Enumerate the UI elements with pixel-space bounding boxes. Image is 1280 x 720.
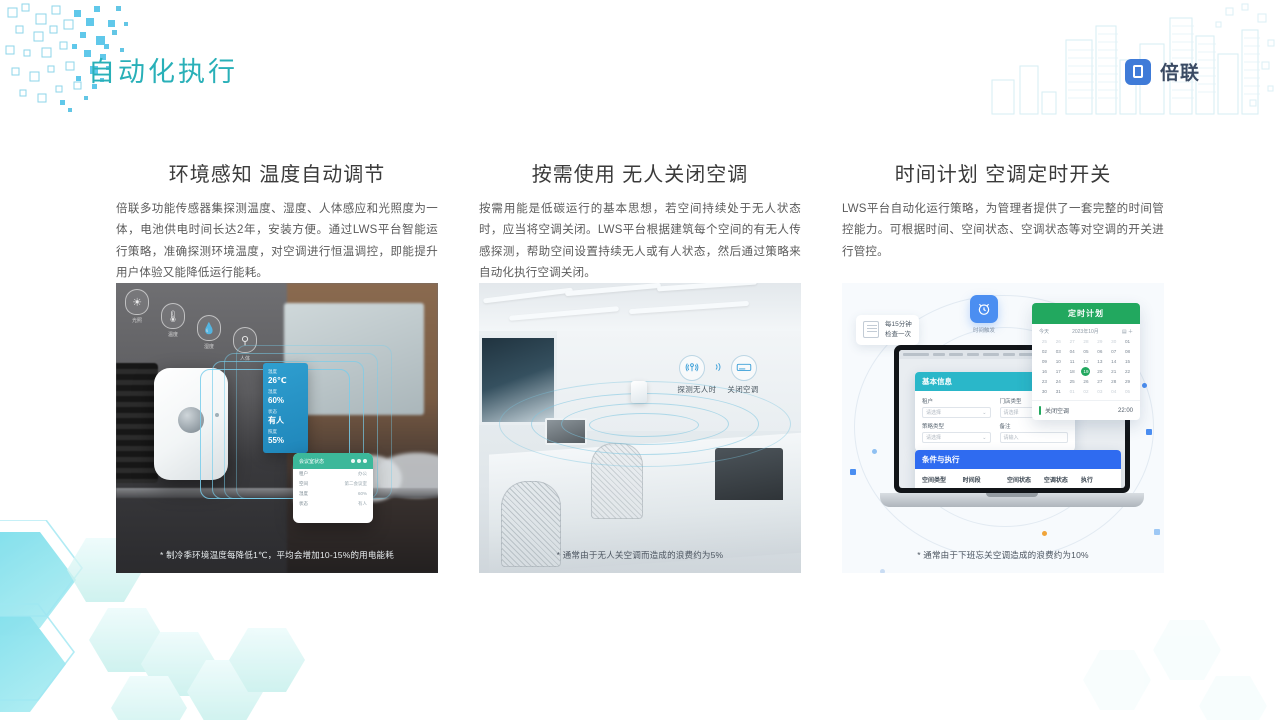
- badge-temperature: 🌡 温度: [160, 303, 186, 362]
- reading-value: 60%: [268, 395, 303, 406]
- field-placeholder: 请选择: [926, 434, 941, 441]
- chevron-down-icon: ⌄: [982, 435, 986, 441]
- plan-title: 定时计划: [1032, 303, 1140, 324]
- calendar-day[interactable]: 10: [1052, 357, 1065, 366]
- col-header: 空间状态: [1007, 473, 1042, 486]
- row-value: 第二会议室: [345, 481, 368, 487]
- figure-caption: * 通常由于无人关空调而造成的浪费约为5%: [479, 549, 801, 561]
- calendar-day[interactable]: 05: [1080, 347, 1093, 356]
- figure2-sensor-waves: [485, 391, 795, 501]
- calendar-day[interactable]: 21: [1107, 367, 1120, 376]
- column-1: 环境感知 温度自动调节 倍联多功能传感器集探测温度、湿度、人体感应和光照度为一体…: [116, 158, 438, 284]
- figure1-vent: [116, 363, 158, 483]
- column-heading: 环境感知 温度自动调节: [116, 158, 438, 187]
- decor-square: [1154, 529, 1160, 535]
- row-label: 状态: [299, 501, 308, 507]
- field-label: 租户: [922, 397, 991, 405]
- decor-dot: [1042, 531, 1047, 536]
- figure3-interval-tag: 每15分钟 检查一次: [856, 315, 919, 345]
- decor-dot: [880, 569, 885, 573]
- condition-title: 条件与执行: [915, 450, 1121, 469]
- calendar-day[interactable]: 13: [1093, 357, 1106, 366]
- thermometer-icon: 🌡: [161, 303, 185, 329]
- calendar-day[interactable]: 29: [1121, 377, 1134, 386]
- field-select[interactable]: 请选择 ⌄: [922, 432, 991, 443]
- figure-office-photo: 探测无人时 关闭空调 * 通常由于无人关空调而造成的浪费约为5%: [479, 283, 801, 573]
- col-header: 空调状态: [1044, 473, 1079, 486]
- col-header: 时间段: [963, 473, 1005, 486]
- text-columns: 环境感知 温度自动调节 倍联多功能传感器集探测温度、湿度、人体感应和光照度为一体…: [0, 158, 1280, 284]
- column-heading: 时间计划 空调定时开关: [842, 158, 1164, 187]
- field-input[interactable]: 请输入: [1000, 432, 1069, 443]
- plan-event-row[interactable]: 关闭空调 22:00: [1032, 400, 1140, 420]
- calendar-day[interactable]: 01: [1066, 387, 1079, 396]
- sun-icon: ☀: [125, 289, 149, 315]
- humidity-icon: 💧: [197, 315, 221, 341]
- calendar-day[interactable]: 22: [1121, 367, 1134, 376]
- calendar-day[interactable]: 03: [1052, 347, 1065, 356]
- condition-card: 条件与执行 空间类型 时间段 空间状态 空调状态 执行 公共办公区 22:00-…: [915, 450, 1121, 488]
- row-value: 办公: [358, 471, 367, 477]
- calendar-day[interactable]: 06: [1093, 347, 1106, 356]
- calendar-day[interactable]: 25: [1066, 377, 1079, 386]
- calendar-day[interactable]: 09: [1038, 357, 1051, 366]
- figure-sensor-photo: ☀ 光照 🌡 温度 💧 湿度 ⚲ 人体 温度: [116, 283, 438, 573]
- figure1-readings-card: 温度 26℃ 湿度 60% 状态 有人 照度 55%: [263, 363, 308, 453]
- event-name: 关闭空调: [1045, 406, 1069, 415]
- decor-hexagons-right: [1060, 580, 1280, 720]
- calendar-actions[interactable]: ▤ ＋: [1122, 328, 1133, 335]
- figure1-room-status-card: 会议室状态 租户 办公 空间 第二会议室 湿度 60% 状态 有人: [293, 453, 373, 523]
- calendar-day[interactable]: 04: [1107, 387, 1120, 396]
- event-time: 22:00: [1118, 408, 1133, 414]
- calendar-day[interactable]: 30: [1107, 337, 1120, 346]
- calendar-today-button[interactable]: 今天: [1039, 328, 1049, 335]
- brand-name: 倍联: [1160, 58, 1200, 85]
- field-policy-type: 策略类型 请选择 ⌄: [922, 422, 991, 443]
- interval-line1: 每15分钟: [885, 321, 912, 328]
- decor-square: [850, 469, 856, 475]
- calendar-day[interactable]: 30: [1038, 387, 1051, 396]
- calendar-day[interactable]: 17: [1052, 367, 1065, 376]
- figure-caption: * 制冷季环境温度每降低1℃，平均会增加10-15%的用电能耗: [116, 549, 438, 561]
- badge-label: 光照: [124, 317, 150, 324]
- column-body: 倍联多功能传感器集探测温度、湿度、人体感应和光照度为一体，电池供电时间长达2年，…: [116, 199, 438, 284]
- field-placeholder: 请输入: [1004, 434, 1019, 441]
- decor-dot: [872, 449, 877, 454]
- row-value: 有人: [358, 501, 367, 507]
- square-logo-icon: [1125, 59, 1151, 85]
- field-placeholder: 请选择: [1004, 409, 1019, 416]
- room-status-row: 空间 第二会议室: [293, 479, 373, 489]
- field-remark: 备注 请输入: [1000, 422, 1069, 443]
- badge-light: ☀ 光照: [124, 289, 150, 362]
- signal-wave-icon: [712, 361, 724, 376]
- figure2-label-turnoff: 关闭空调: [727, 384, 758, 395]
- brand-logo: 倍联: [1125, 58, 1200, 85]
- laptop-base: [880, 493, 1144, 507]
- chevron-down-icon: ⌄: [982, 410, 986, 416]
- field-label: 策略类型: [922, 422, 991, 430]
- column-body: 按需用能是低碳运行的基本思想，若空间持续处于无人状态时，应当将空调关闭。LWS平…: [479, 199, 801, 284]
- cell: 公共办公区: [922, 486, 961, 488]
- cell: 22:00-07:00: [963, 486, 1005, 488]
- figure-schedule-dashboard: 每15分钟 检查一次 时间触发: [842, 283, 1164, 573]
- schedule-plan-card: 定时计划 今天 2023年10月 ▤ ＋ 2526272829300102030…: [1032, 303, 1140, 420]
- calendar-toolbar: 今天 2023年10月 ▤ ＋: [1032, 324, 1140, 337]
- figure2-label-detect: 探测无人时: [677, 384, 716, 395]
- calendar-day[interactable]: 04: [1066, 347, 1079, 356]
- calendar-day[interactable]: 24: [1052, 377, 1065, 386]
- figure-caption: * 通常由于下班忘关空调造成的浪费约为10%: [842, 549, 1164, 561]
- reading-value: 26℃: [268, 375, 303, 386]
- calendar-day[interactable]: 28: [1107, 377, 1120, 386]
- figure2-icon-group: 探测无人时 关闭空调: [665, 355, 771, 395]
- calendar-day[interactable]: 07: [1107, 347, 1120, 356]
- figure2-ceiling: [479, 283, 801, 331]
- calendar-day[interactable]: 28: [1080, 337, 1093, 346]
- room-status-title: 会议室状态: [299, 458, 324, 465]
- figure3-trigger-badge: 时间触发: [970, 295, 998, 334]
- column-body: LWS平台自动化运行策略，为管理者提供了一套完整的时间管控能力。可根据时间、空间…: [842, 199, 1164, 263]
- air-conditioner-icon: [731, 355, 757, 381]
- calendar-day[interactable]: 03: [1093, 387, 1106, 396]
- cell: 开: [1044, 486, 1079, 488]
- decor-square: [1146, 429, 1152, 435]
- trigger-label: 时间触发: [970, 326, 998, 334]
- page-header: 自动化执行 倍联: [0, 0, 1280, 120]
- calendar-day[interactable]: 16: [1038, 367, 1051, 376]
- cell: 关闭空调: [1081, 486, 1114, 488]
- checklist-search-icon: [863, 321, 879, 338]
- calendar-day[interactable]: 11: [1066, 357, 1079, 366]
- calendar-day[interactable]: 08: [1121, 347, 1134, 356]
- column-heading: 按需使用 无人关闭空调: [479, 158, 801, 187]
- row-value: 60%: [358, 491, 367, 497]
- field-select[interactable]: 请选择 ⌄: [922, 407, 991, 418]
- column-3: 时间计划 空调定时开关 LWS平台自动化运行策略，为管理者提供了一套完整的时间管…: [842, 158, 1164, 284]
- figure2-sensor-device: [631, 381, 647, 403]
- calendar-day[interactable]: 25: [1038, 337, 1051, 346]
- reading-value: 有人: [268, 415, 303, 426]
- reading-value: 55%: [268, 435, 303, 446]
- field-label: 备注: [1000, 422, 1069, 430]
- calendar-day[interactable]: 26: [1080, 377, 1093, 386]
- calendar-day[interactable]: 20: [1093, 367, 1106, 376]
- decor-dot: [1142, 383, 1147, 388]
- interval-text: 每15分钟 检查一次: [885, 320, 912, 340]
- interval-line2: 检查一次: [885, 331, 911, 338]
- room-status-row: 湿度 60%: [293, 489, 373, 499]
- calendar-day[interactable]: 12: [1080, 357, 1093, 366]
- calendar-day[interactable]: 18: [1066, 367, 1079, 376]
- calendar-day[interactable]: 05: [1121, 387, 1134, 396]
- calendar-day[interactable]: 15: [1121, 357, 1134, 366]
- calendar-day[interactable]: 02: [1080, 387, 1093, 396]
- calendar-day[interactable]: 31: [1052, 387, 1065, 396]
- cell: 持续无人: [1007, 486, 1042, 488]
- col-header: 空间类型: [922, 473, 961, 486]
- calendar-day[interactable]: 02: [1038, 347, 1051, 356]
- condition-table: 空间类型 时间段 空间状态 空调状态 执行 公共办公区 22:00-07:00 …: [915, 469, 1121, 488]
- row-label: 空间: [299, 481, 308, 487]
- table-header-row: 空间类型 时间段 空间状态 空调状态 执行: [922, 473, 1114, 486]
- badge-label: 温度: [160, 331, 186, 338]
- room-status-row: 状态 有人: [293, 499, 373, 509]
- calendar-day[interactable]: 19: [1081, 367, 1090, 376]
- window-dots-icon: [351, 459, 367, 463]
- row-label: 租户: [299, 471, 308, 477]
- col-header: 执行: [1081, 473, 1114, 486]
- calendar-day[interactable]: 27: [1066, 337, 1079, 346]
- calendar-month-label[interactable]: 2023年10月: [1072, 328, 1099, 335]
- calendar-day[interactable]: 14: [1107, 357, 1120, 366]
- room-status-row: 租户 办公: [293, 469, 373, 479]
- room-status-header: 会议室状态: [293, 453, 373, 469]
- calendar-day[interactable]: 01: [1121, 337, 1134, 346]
- person-detect-icon: [679, 355, 705, 381]
- table-row: 公共办公区 22:00-07:00 持续无人 开 关闭空调: [922, 486, 1114, 488]
- page-title: 自动化执行: [88, 50, 238, 89]
- calendar-day[interactable]: 26: [1052, 337, 1065, 346]
- alarm-clock-icon: [970, 295, 998, 323]
- field-placeholder: 请选择: [926, 409, 941, 416]
- calendar-day[interactable]: 27: [1093, 377, 1106, 386]
- calendar-grid[interactable]: 2526272829300102030405060708091011121314…: [1032, 337, 1140, 400]
- calendar-day[interactable]: 29: [1093, 337, 1106, 346]
- column-2: 按需使用 无人关闭空调 按需用能是低碳运行的基本思想，若空间持续处于无人状态时，…: [479, 158, 801, 284]
- figure-row: ☀ 光照 🌡 温度 💧 湿度 ⚲ 人体 温度: [0, 283, 1280, 573]
- field-tenant: 租户 请选择 ⌄: [922, 397, 991, 418]
- row-label: 湿度: [299, 491, 308, 497]
- event-marker-icon: [1039, 406, 1041, 415]
- calendar-day[interactable]: 23: [1038, 377, 1051, 386]
